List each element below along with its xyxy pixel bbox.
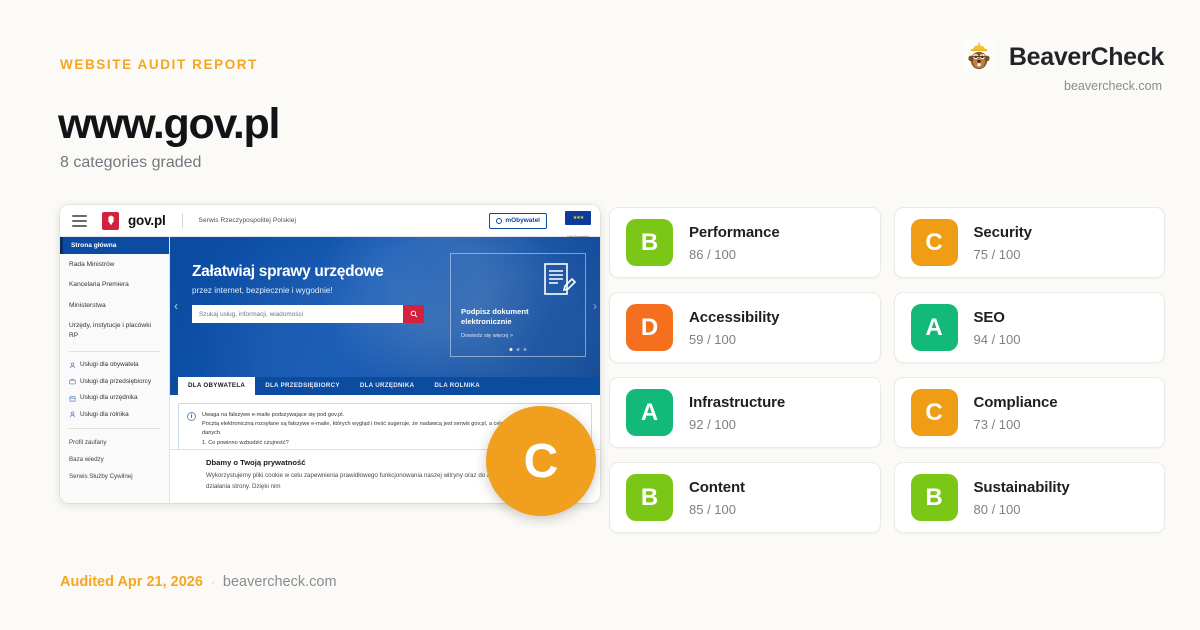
score-value: 73 / 100 [974,417,1058,432]
score-card-grid: B Performance 86 / 100 C Security 75 / 1… [609,207,1165,533]
person-icon [69,362,76,369]
info-icon: i [187,412,196,421]
score-card[interactable]: B Sustainability 80 / 100 [894,462,1166,533]
document-sign-icon [542,262,576,300]
magnifier-icon [410,310,418,318]
footer-separator: · [211,575,215,589]
brand-url: beavercheck.com [1064,79,1162,93]
brand-lockup: BeaverCheck beavercheck.com [962,40,1164,93]
eu-flag-badge: ★★★ Unia Europejska [565,211,591,231]
sidebar-divider [69,351,160,352]
score-value: 85 / 100 [689,502,745,517]
score-value: 92 / 100 [689,417,785,432]
score-category: Sustainability [974,479,1070,496]
sidebar-service-item: Usługi dla rolnika [60,406,169,423]
tab-business: DLA PRZEDSIĘBIORCY [255,376,350,395]
score-category: Security [974,224,1032,241]
tab-farmer: DLA ROLNIKA [424,376,490,395]
page-title: www.gov.pl [58,100,279,149]
sidebar-item: Ministerstwa [60,295,169,316]
person-icon [69,411,76,418]
score-card[interactable]: C Security 75 / 100 [894,207,1166,278]
score-card[interactable]: C Compliance 73 / 100 [894,377,1166,448]
page-subtitle: 8 categories graded [60,154,201,172]
hamburger-icon [72,215,87,227]
report-eyebrow: WEBSITE AUDIT REPORT [60,57,258,72]
score-category: Accessibility [689,309,779,326]
brand-name: BeaverCheck [1009,43,1164,72]
govpl-tagline: Serwis Rzeczypospolitej Polskiej [199,217,297,224]
report-card: WEBSITE AUDIT REPORT [0,0,1200,630]
beaver-hardhat-icon [962,40,996,74]
chevron-right-icon: › [593,299,597,313]
sidebar-link: Baza wiedzy [60,451,169,468]
report-footer: Audited Apr 21, 2026 · beavercheck.com [60,574,337,590]
sidebar-service-label: Usługi dla obywatela [80,361,139,368]
preview-tabs: DLA OBYWATELA DLA PRZEDSIĘBIORCY DLA URZ… [170,376,600,395]
grade-badge: C [911,389,958,436]
overall-grade-badge: C [486,406,596,516]
mobywatel-icon [496,218,502,224]
sidebar-service-item: Usługi dla obywatela [60,357,169,374]
score-value: 94 / 100 [974,332,1021,347]
score-value: 86 / 100 [689,247,780,262]
mobywatel-label: mObywatel [505,217,540,224]
promo-title: Podpisz dokument elektronicznie [461,307,575,328]
mobywatel-button: mObywatel [489,213,547,229]
score-card[interactable]: B Content 85 / 100 [609,462,881,533]
score-category: Content [689,479,745,496]
grade-badge: B [911,474,958,521]
hero-promo-card: Podpisz dokument elektronicznie Dowiedz … [450,253,586,357]
score-category: Performance [689,224,780,241]
score-category: SEO [974,309,1021,326]
footer-url: beavercheck.com [223,574,337,590]
score-value: 80 / 100 [974,502,1070,517]
score-card[interactable]: B Performance 86 / 100 [609,207,881,278]
preview-topbar: gov.pl Serwis Rzeczypospolitej Polskiej … [60,205,600,237]
tab-official: DLA URZĘDNIKA [350,376,425,395]
grade-badge: A [626,389,673,436]
grade-badge: B [626,474,673,521]
grade-badge: B [626,219,673,266]
search-input [192,305,403,323]
carousel-dots [510,348,527,351]
sidebar-service-label: Usługi dla przedsiębiorcy [80,378,151,385]
grade-badge: A [911,304,958,351]
audit-date: Audited Apr 21, 2026 [60,574,203,590]
score-value: 75 / 100 [974,247,1032,262]
grade-badge: C [911,219,958,266]
score-value: 59 / 100 [689,332,779,347]
preview-search [192,305,424,323]
score-card[interactable]: A SEO 94 / 100 [894,292,1166,363]
briefcase-icon [69,378,76,385]
sidebar-item: Urzędy, instytucje i placówki RP [60,316,169,346]
sidebar-link: Serwis Służby Cywilnej [60,468,169,485]
chevron-left-icon: ‹ [174,299,178,313]
grade-badge: D [626,304,673,351]
sidebar-item: Rada Ministrów [60,254,169,275]
score-category: Compliance [974,394,1058,411]
sidebar-service-label: Usługi dla urzędnika [80,394,138,401]
score-card[interactable]: D Accessibility 59 / 100 [609,292,881,363]
topbar-divider [182,213,183,228]
promo-link: Dowiedz się więcej > [461,333,575,339]
polish-eagle-icon [102,212,119,230]
search-button [403,305,424,323]
tab-citizen: DLA OBYWATELA [178,376,255,395]
score-category: Infrastructure [689,394,785,411]
sidebar-divider [69,428,160,429]
building-icon [69,395,76,402]
sidebar-service-item: Usługi dla przedsiębiorcy [60,373,169,390]
preview-sidebar: Strona główna Rada Ministrów Kancelaria … [60,237,170,503]
sidebar-service-item: Usługi dla urzędnika [60,390,169,407]
preview-hero: Załatwiaj sprawy urzędowe przez internet… [170,237,600,377]
score-card[interactable]: A Infrastructure 92 / 100 [609,377,881,448]
sidebar-link: Profil zaufany [60,434,169,451]
sidebar-item-home: Strona główna [60,237,169,254]
govpl-logo: gov.pl [128,213,166,228]
sidebar-item: Kancelaria Premiera [60,275,169,296]
sidebar-service-label: Usługi dla rolnika [80,411,129,418]
